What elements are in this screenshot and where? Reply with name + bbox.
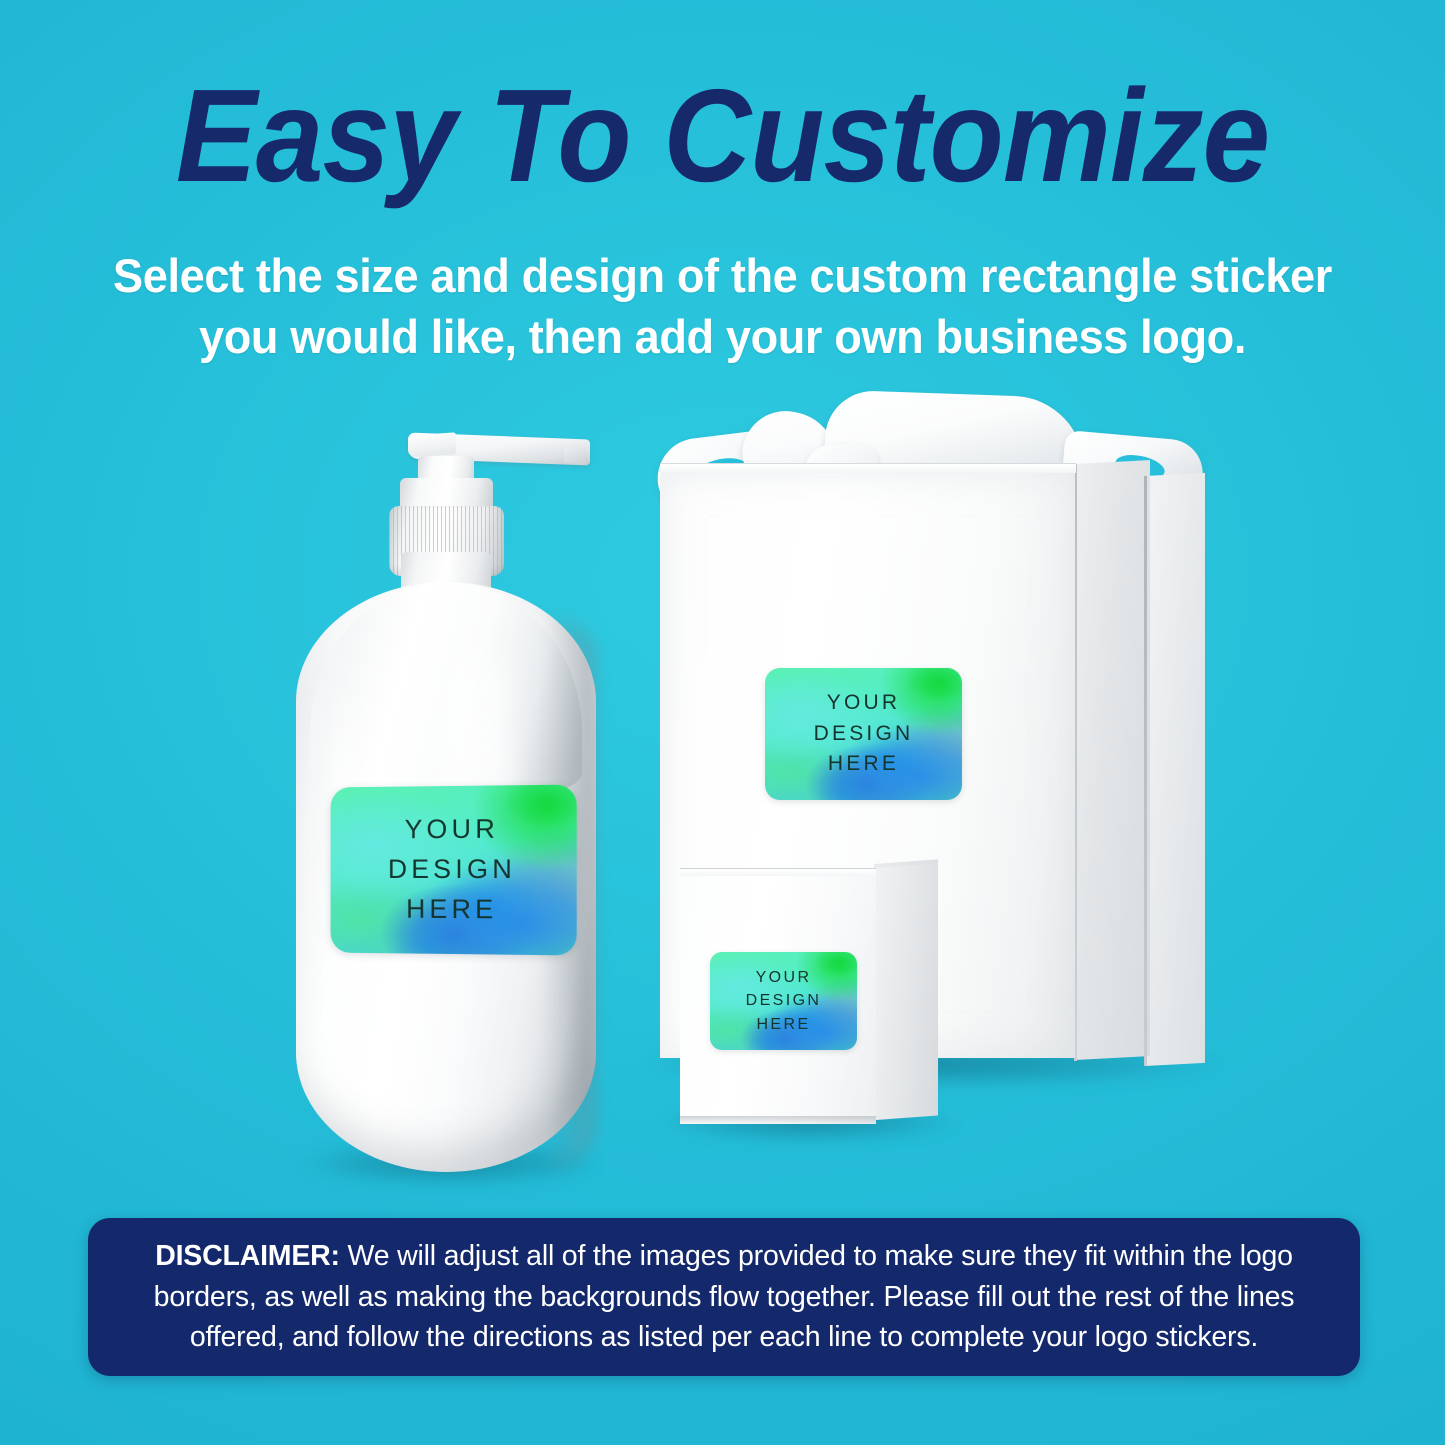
pump-nozzle-lip — [564, 447, 586, 465]
page-title: Easy To Customize — [58, 70, 1387, 202]
sticker-on-small-box[interactable]: YOUR DESIGN HERE — [710, 952, 857, 1050]
poster-canvas: Easy To Customize Select the size and de… — [0, 0, 1445, 1445]
disclaimer-label: DISCLAIMER: — [155, 1240, 340, 1272]
sticker-line-1: YOUR — [756, 966, 812, 989]
pump-lever — [408, 432, 456, 457]
sticker-line-2: DESIGN — [388, 850, 516, 890]
subtitle-line-2: you would like, then add your own busine… — [29, 306, 1416, 367]
gift-box-side-panel — [1075, 460, 1150, 1060]
gift-box-seam-outer — [1144, 476, 1147, 1066]
sticker-line-3: HERE — [756, 1013, 810, 1036]
gift-box-top-edge — [660, 463, 1076, 473]
page-subtitle: Select the size and design of the custom… — [29, 245, 1416, 367]
small-box-bottom-shade — [680, 1116, 876, 1124]
pump-bottle-product: YOUR DESIGN HERE — [296, 432, 596, 1172]
small-box-product: YOUR DESIGN HERE — [680, 868, 950, 1134]
sticker-label-text: YOUR DESIGN HERE — [331, 785, 577, 956]
gift-box-back-panel — [1145, 473, 1205, 1066]
sticker-on-bottle[interactable]: YOUR DESIGN HERE — [331, 785, 577, 956]
small-box-top-edge — [680, 868, 876, 876]
sticker-line-2: DESIGN — [746, 989, 822, 1012]
subtitle-line-1: Select the size and design of the custom… — [29, 245, 1416, 306]
sticker-line-1: YOUR — [827, 688, 900, 719]
disclaimer-text: DISCLAIMER: We will adjust all of the im… — [118, 1236, 1330, 1357]
sticker-label-text: YOUR DESIGN HERE — [765, 668, 962, 800]
sticker-line-3: HERE — [828, 749, 899, 780]
sticker-line-3: HERE — [406, 890, 497, 930]
disclaimer-banner: DISCLAIMER: We will adjust all of the im… — [88, 1218, 1360, 1376]
sticker-label-text: YOUR DESIGN HERE — [710, 952, 857, 1050]
sticker-on-gift-box[interactable]: YOUR DESIGN HERE — [765, 668, 962, 800]
sticker-line-2: DESIGN — [814, 719, 914, 750]
small-box-side-panel — [876, 863, 938, 1120]
sticker-line-1: YOUR — [405, 810, 499, 850]
